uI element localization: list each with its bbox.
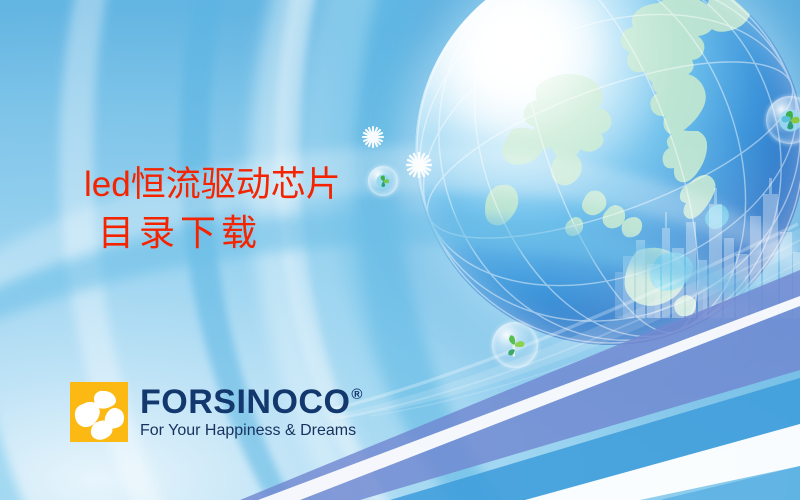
headline-block: led恒流驱动芯片 目录下载 [84,162,504,258]
logo-tagline: For Your Happiness & Dreams [140,422,363,440]
company-logo[interactable]: FORSINOCO ® For Your Happiness & Dreams [70,382,363,442]
logo-text-lockup: FORSINOCO ® For Your Happiness & Dreams [140,385,363,440]
headline-line-2: 目录下载 [84,208,504,258]
promo-banner: led恒流驱动芯片 目录下载 FORSINOCO ® For Your Happ… [0,0,800,500]
registered-mark: ® [351,387,363,402]
forsinoco-flower-mark-icon [70,382,128,442]
logo-name-text: FORSINOCO [140,385,350,419]
headline-line-1: led恒流驱动芯片 [84,162,504,208]
logo-wordmark: FORSINOCO ® [140,385,363,419]
